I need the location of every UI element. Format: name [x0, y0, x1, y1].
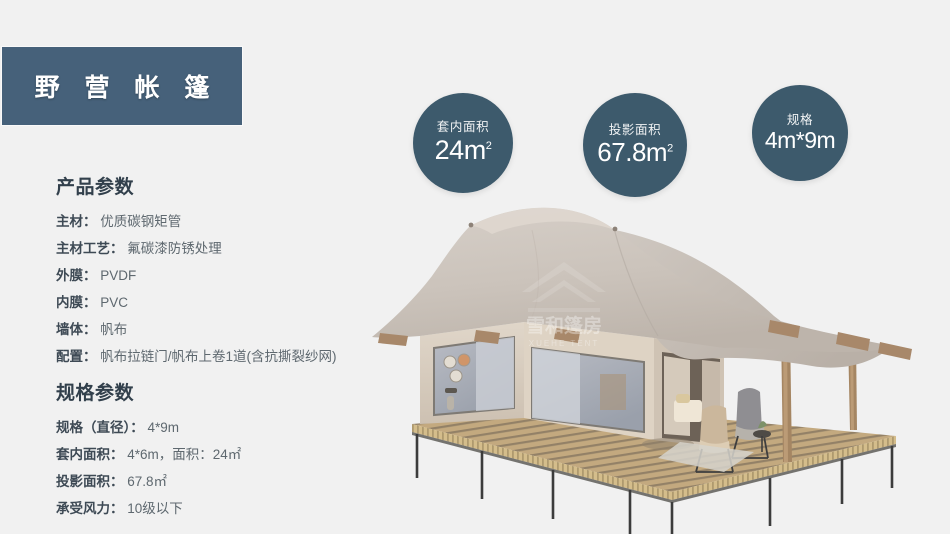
spec-row: 墙体： 帆布	[56, 316, 337, 343]
product-params-heading: 产品参数	[56, 172, 337, 199]
interior-bathroom	[600, 374, 626, 410]
spec-key: 承受风力：	[56, 501, 124, 516]
tent-illustration: 雪和篷房 XUEHE TENT	[372, 196, 950, 534]
badge-value: 24m2	[435, 136, 492, 164]
curtain-middle	[532, 348, 580, 424]
spec-key: 墙体：	[56, 322, 97, 337]
spec-key: 主材工艺：	[56, 241, 124, 256]
pillow	[676, 394, 690, 403]
curtain-left	[476, 337, 514, 411]
spec-key: 规格（直径）：	[56, 420, 144, 435]
spec-row: 配置： 帆布拉链门/帆布上卷1道(含抗撕裂纱网)	[56, 343, 337, 370]
page-title: 野 营 帐 篷	[26, 68, 219, 104]
badge-unit: m	[646, 137, 667, 167]
spec-row: 套内面积： 4*6m，面积：24㎡	[56, 441, 241, 468]
spec-value: 帆布拉链门/帆布上卷1道(含抗撕裂纱网)	[100, 349, 336, 364]
badge-spec: 规格 4m*9m	[752, 85, 848, 181]
badge-unit: m	[464, 135, 486, 165]
spec-row: 内膜： PVC	[56, 289, 337, 316]
spec-value: 氟碳漆防锈处理	[127, 241, 222, 256]
badge-value: 4m*9m	[765, 128, 835, 152]
peak-tip-right	[613, 227, 618, 232]
spec-key: 外膜：	[56, 268, 97, 283]
spec-value: PVC	[100, 295, 128, 310]
spec-value: 4*6m，面积：24㎡	[127, 447, 241, 462]
badge-number: 67.8	[597, 137, 646, 167]
page-title-banner: 野 营 帐 篷	[2, 47, 242, 125]
spec-key: 配置：	[56, 349, 97, 364]
spec-row: 主材工艺： 氟碳漆防锈处理	[56, 235, 337, 262]
badge-superscript: 2	[667, 142, 673, 154]
spec-row: 承受风力： 10级以下	[56, 495, 241, 522]
spec-value: 10级以下	[127, 501, 183, 516]
spec-value: 优质碳钢矩管	[100, 214, 181, 229]
bed	[674, 400, 702, 422]
badge-label: 投影面积	[609, 124, 661, 138]
spec-value: 4*9m	[148, 420, 180, 435]
badge-number: 4m*9m	[765, 127, 835, 153]
spec-key: 投影面积：	[56, 474, 124, 489]
badge-indoor-area: 套内面积 24m2	[413, 93, 513, 193]
canopy-main	[372, 208, 892, 352]
badge-label: 套内面积	[437, 121, 489, 135]
spec-row: 投影面积： 67.8㎡	[56, 468, 241, 495]
spec-row: 外膜： PVDF	[56, 262, 337, 289]
badge-value: 67.8m2	[597, 139, 672, 166]
badge-superscript: 2	[486, 140, 492, 152]
spec-key: 内膜：	[56, 295, 97, 310]
badge-number: 24	[435, 135, 464, 165]
spec-key: 套内面积：	[56, 447, 124, 462]
size-params-section: 规格参数 规格（直径）： 4*9m 套内面积： 4*6m，面积：24㎡ 投影面积…	[56, 378, 241, 522]
spec-value: PVDF	[100, 268, 136, 283]
spec-value: 帆布	[100, 322, 127, 337]
spec-value: 67.8㎡	[127, 474, 167, 489]
watermark-text: 雪和篷房	[526, 314, 602, 337]
spec-row: 规格（直径）： 4*9m	[56, 414, 241, 441]
watermark-subtext: XUEHE TENT	[529, 339, 600, 348]
peak-tip-left	[469, 223, 474, 228]
size-params-heading: 规格参数	[56, 378, 241, 405]
spec-key: 主材：	[56, 214, 97, 229]
spec-row: 主材： 优质碳钢矩管	[56, 208, 337, 235]
badge-projection-area: 投影面积 67.8m2	[583, 93, 687, 197]
badge-label: 规格	[787, 114, 813, 128]
product-params-section: 产品参数 主材： 优质碳钢矩管 主材工艺： 氟碳漆防锈处理 外膜： PVDF 内…	[56, 172, 337, 370]
page-root: 野 营 帐 篷 产品参数 主材： 优质碳钢矩管 主材工艺： 氟碳漆防锈处理 外膜…	[0, 0, 950, 534]
